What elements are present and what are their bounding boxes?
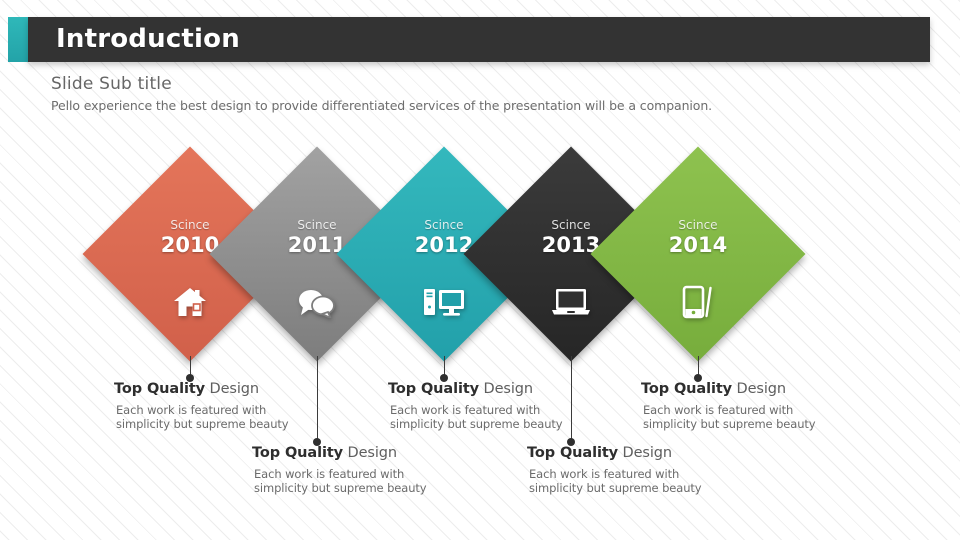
diamond-year-label: 2014 [622,233,774,257]
caption-line-2: simplicity but supreme beauty [390,417,618,431]
caption-title-rest: Design [343,445,397,461]
caption-block[interactable]: Top Quality Design Each work is featured… [114,381,344,431]
caption-line-2: simplicity but supreme beauty [254,481,482,495]
caption-title-bold: Top Quality [252,445,343,461]
caption-body: Each work is featured with simplicity bu… [116,403,344,431]
caption-line-1: Each work is featured with [643,403,871,417]
caption-line-2: simplicity but supreme beauty [116,417,344,431]
caption-block[interactable]: Top Quality Design Each work is featured… [527,445,757,495]
caption-title-bold: Top Quality [641,381,732,397]
caption-title-rest: Design [205,381,259,397]
caption-body: Each work is featured with simplicity bu… [254,467,482,495]
mobile-phone-icon [622,280,774,324]
timeline-diamond-2014[interactable]: Scince 2014 [591,147,806,362]
caption-title-rest: Design [732,381,786,397]
caption-title-rest: Design [479,381,533,397]
caption-block[interactable]: Top Quality Design Each work is featured… [252,445,482,495]
diamond-since-label: Scince [622,218,774,232]
caption-title: Top Quality Design [641,381,871,397]
caption-title: Top Quality Design [388,381,618,397]
caption-title-bold: Top Quality [527,445,618,461]
caption-line-2: simplicity but supreme beauty [529,481,757,495]
caption-line-1: Each work is featured with [254,467,482,481]
caption-block[interactable]: Top Quality Design Each work is featured… [388,381,618,431]
caption-title-bold: Top Quality [388,381,479,397]
caption-line-2: simplicity but supreme beauty [643,417,871,431]
caption-line-1: Each work is featured with [529,467,757,481]
caption-body: Each work is featured with simplicity bu… [390,403,618,431]
caption-body: Each work is featured with simplicity bu… [529,467,757,495]
caption-title: Top Quality Design [527,445,757,461]
caption-title: Top Quality Design [252,445,482,461]
caption-block[interactable]: Top Quality Design Each work is featured… [641,381,871,431]
slide-canvas: Introduction Slide Sub title Pello exper… [0,0,960,540]
caption-title: Top Quality Design [114,381,344,397]
caption-body: Each work is featured with simplicity bu… [643,403,871,431]
caption-line-1: Each work is featured with [116,403,344,417]
caption-title-bold: Top Quality [114,381,205,397]
caption-title-rest: Design [618,445,672,461]
caption-line-1: Each work is featured with [390,403,618,417]
